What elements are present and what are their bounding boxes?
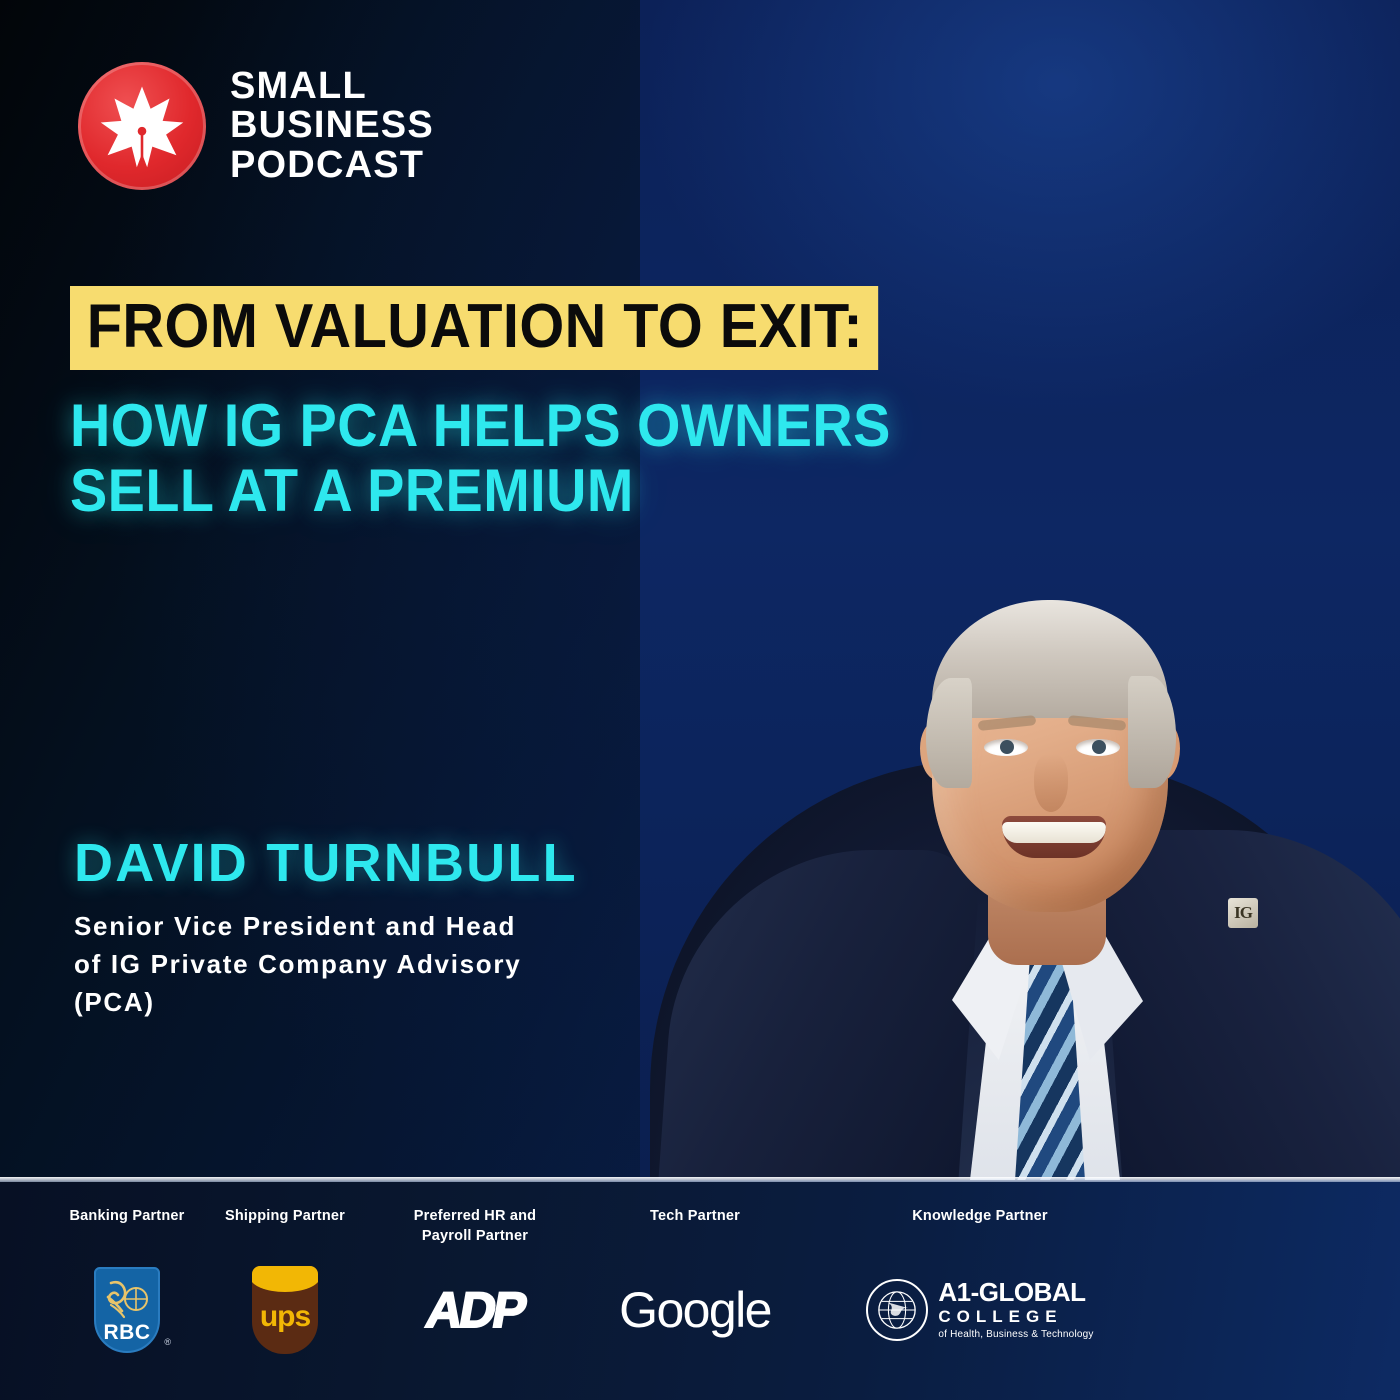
pupil-left: [1000, 740, 1014, 754]
partner-label: Preferred HR and Payroll Partner: [414, 1206, 536, 1246]
adp-logo: ADP: [427, 1262, 524, 1358]
ig-lapel-pin-icon: IG: [1228, 898, 1258, 928]
partner-knowledge: Knowledge Partner A1-GLOBAL: [840, 1206, 1120, 1358]
partner-label: Tech Partner: [650, 1206, 740, 1246]
brand-line-1: SMALL: [230, 67, 434, 107]
globe-icon: [866, 1279, 928, 1341]
suit-right-shoulder: [1098, 830, 1400, 1180]
speaker-role-line-3: (PCA): [74, 984, 634, 1022]
podcast-brand-logo: SMALL BUSINESS PODCAST: [78, 62, 434, 190]
rbc-logo-text: RBC: [104, 1322, 151, 1343]
a1-logo-tagline: of Health, Business & Technology: [938, 1329, 1093, 1341]
speaker-role-line-1: Senior Vice President and Head: [74, 908, 634, 946]
maple-leaf-star-icon: [78, 62, 206, 190]
nose: [1034, 754, 1068, 812]
brand-wordmark: SMALL BUSINESS PODCAST: [230, 67, 434, 186]
ups-arc-shape: [252, 1266, 318, 1292]
partner-label: Banking Partner: [70, 1206, 185, 1246]
rbc-logo: RBC ®: [94, 1262, 160, 1358]
teeth: [1002, 822, 1106, 843]
partner-label: Knowledge Partner: [912, 1206, 1048, 1246]
partner-hr-payroll: Preferred HR and Payroll Partner ADP: [365, 1206, 585, 1358]
adp-logo-text: ADP: [422, 1281, 529, 1339]
a1-logo-line-1: A1-GLOBAL: [938, 1279, 1093, 1305]
speaker-role: Senior Vice President and Head of IG Pri…: [74, 908, 634, 1022]
partner-shipping: Shipping Partner ups: [175, 1206, 395, 1358]
speaker-info: DAVID TURNBULL Senior Vice President and…: [74, 832, 634, 1022]
registered-mark: ®: [164, 1337, 171, 1347]
title-highlight-line: FROM VALUATION TO EXIT:: [70, 286, 878, 370]
title-subline-1: HOW IG PCA HELPS OWNERS: [70, 394, 963, 459]
speaker-name: DAVID TURNBULL: [74, 832, 634, 894]
brand-line-3: PODCAST: [230, 146, 434, 186]
pupil-right: [1092, 740, 1106, 754]
partner-tech: Tech Partner Google: [585, 1206, 805, 1358]
a1-logo-line-2: COLLEGE: [938, 1305, 1093, 1329]
suit-left-shoulder: [658, 850, 981, 1180]
speaker-photo: IG: [640, 0, 1400, 1180]
brand-line-2: BUSINESS: [230, 106, 434, 146]
ups-logo-text: ups: [260, 1300, 310, 1334]
google-logo: Google: [619, 1262, 771, 1358]
partner-list: Banking Partner RBC ®: [0, 1182, 1400, 1400]
ups-logo: ups: [252, 1262, 318, 1358]
a1-global-college-logo: A1-GLOBAL COLLEGE of Health, Business & …: [866, 1262, 1093, 1358]
title-subline-2: SELL AT A PREMIUM: [70, 459, 963, 524]
episode-title: FROM VALUATION TO EXIT: HOW IG PCA HELPS…: [70, 286, 1030, 524]
speaker-role-line-2: of IG Private Company Advisory: [74, 946, 634, 984]
partners-footer: Banking Partner RBC ®: [0, 1182, 1400, 1400]
mouth: [1002, 816, 1106, 858]
google-logo-text: Google: [619, 1281, 771, 1339]
title-subline: HOW IG PCA HELPS OWNERS SELL AT A PREMIU…: [70, 394, 963, 524]
podcast-promo-canvas: IG SMALL BUSINESS PODCAST: [0, 0, 1400, 1400]
partner-label: Shipping Partner: [225, 1206, 345, 1246]
hair-side-left: [926, 678, 972, 788]
hair-side-right: [1128, 676, 1176, 788]
